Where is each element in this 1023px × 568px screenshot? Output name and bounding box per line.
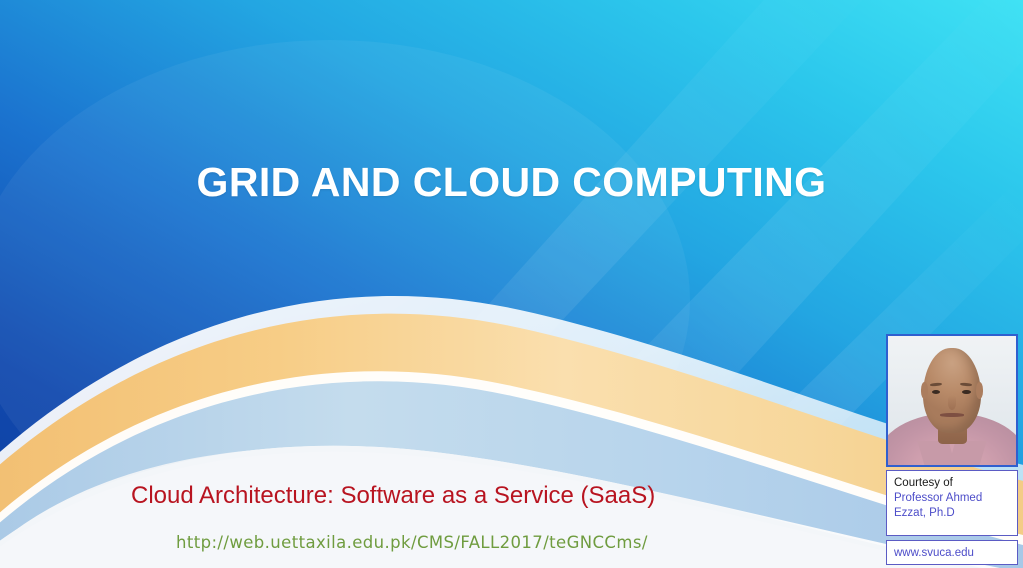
presentation-slide: GRID AND CLOUD COMPUTING Cloud Architect… — [0, 0, 1023, 568]
page-title: GRID AND CLOUD COMPUTING — [0, 160, 1023, 205]
portrait-mouth — [940, 413, 963, 416]
avatar — [886, 334, 1018, 467]
credit-person-name: Professor Ahmed — [894, 491, 1011, 506]
slide-subtitle: Cloud Architecture: Software as a Servic… — [131, 482, 655, 510]
portrait-eye-right — [962, 390, 971, 394]
portrait-nose — [948, 395, 957, 409]
credit-panel: Courtesy of Professor Ahmed Ezzat, Ph.D … — [886, 334, 1022, 565]
courtesy-label: Courtesy of — [894, 476, 1011, 491]
credit-person-title: Ezzat, Ph.D — [894, 506, 1011, 521]
course-url-link[interactable]: http://web.uettaxila.edu.pk/CMS/FALL2017… — [176, 533, 648, 552]
website-box[interactable]: www.svuca.edu — [886, 540, 1018, 565]
credit-text-box: Courtesy of Professor Ahmed Ezzat, Ph.D — [886, 470, 1018, 536]
website-link[interactable]: www.svuca.edu — [894, 547, 974, 559]
portrait-eye-left — [932, 390, 941, 394]
